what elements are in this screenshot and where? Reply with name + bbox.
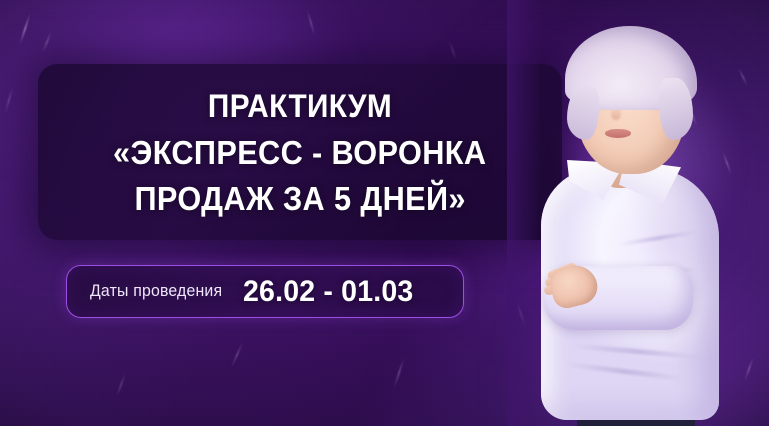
presenter-photo [507,0,769,426]
title-line-3: ПРОДАЖ ЗА 5 ДНЕЙ» [134,177,465,220]
presenter-hair-side-left [567,86,599,140]
title-line-2: «ЭКСПРЕСС - ВОРОНКА [113,131,486,174]
date-badge-value: 26.02 - 01.03 [243,275,413,309]
title-line-1: ПРАКТИКУМ [208,85,392,128]
date-badge-label: Даты проведения [90,282,222,301]
date-badge: Даты проведения 26.02 - 01.03 [66,265,464,318]
promo-banner: ПРАКТИКУМ «ЭКСПРЕСС - ВОРОНКА ПРОДАЖ ЗА … [0,0,769,426]
title-block: ПРАКТИКУМ «ЭКСПРЕСС - ВОРОНКА ПРОДАЖ ЗА … [38,72,562,232]
presenter-lips [605,129,631,138]
